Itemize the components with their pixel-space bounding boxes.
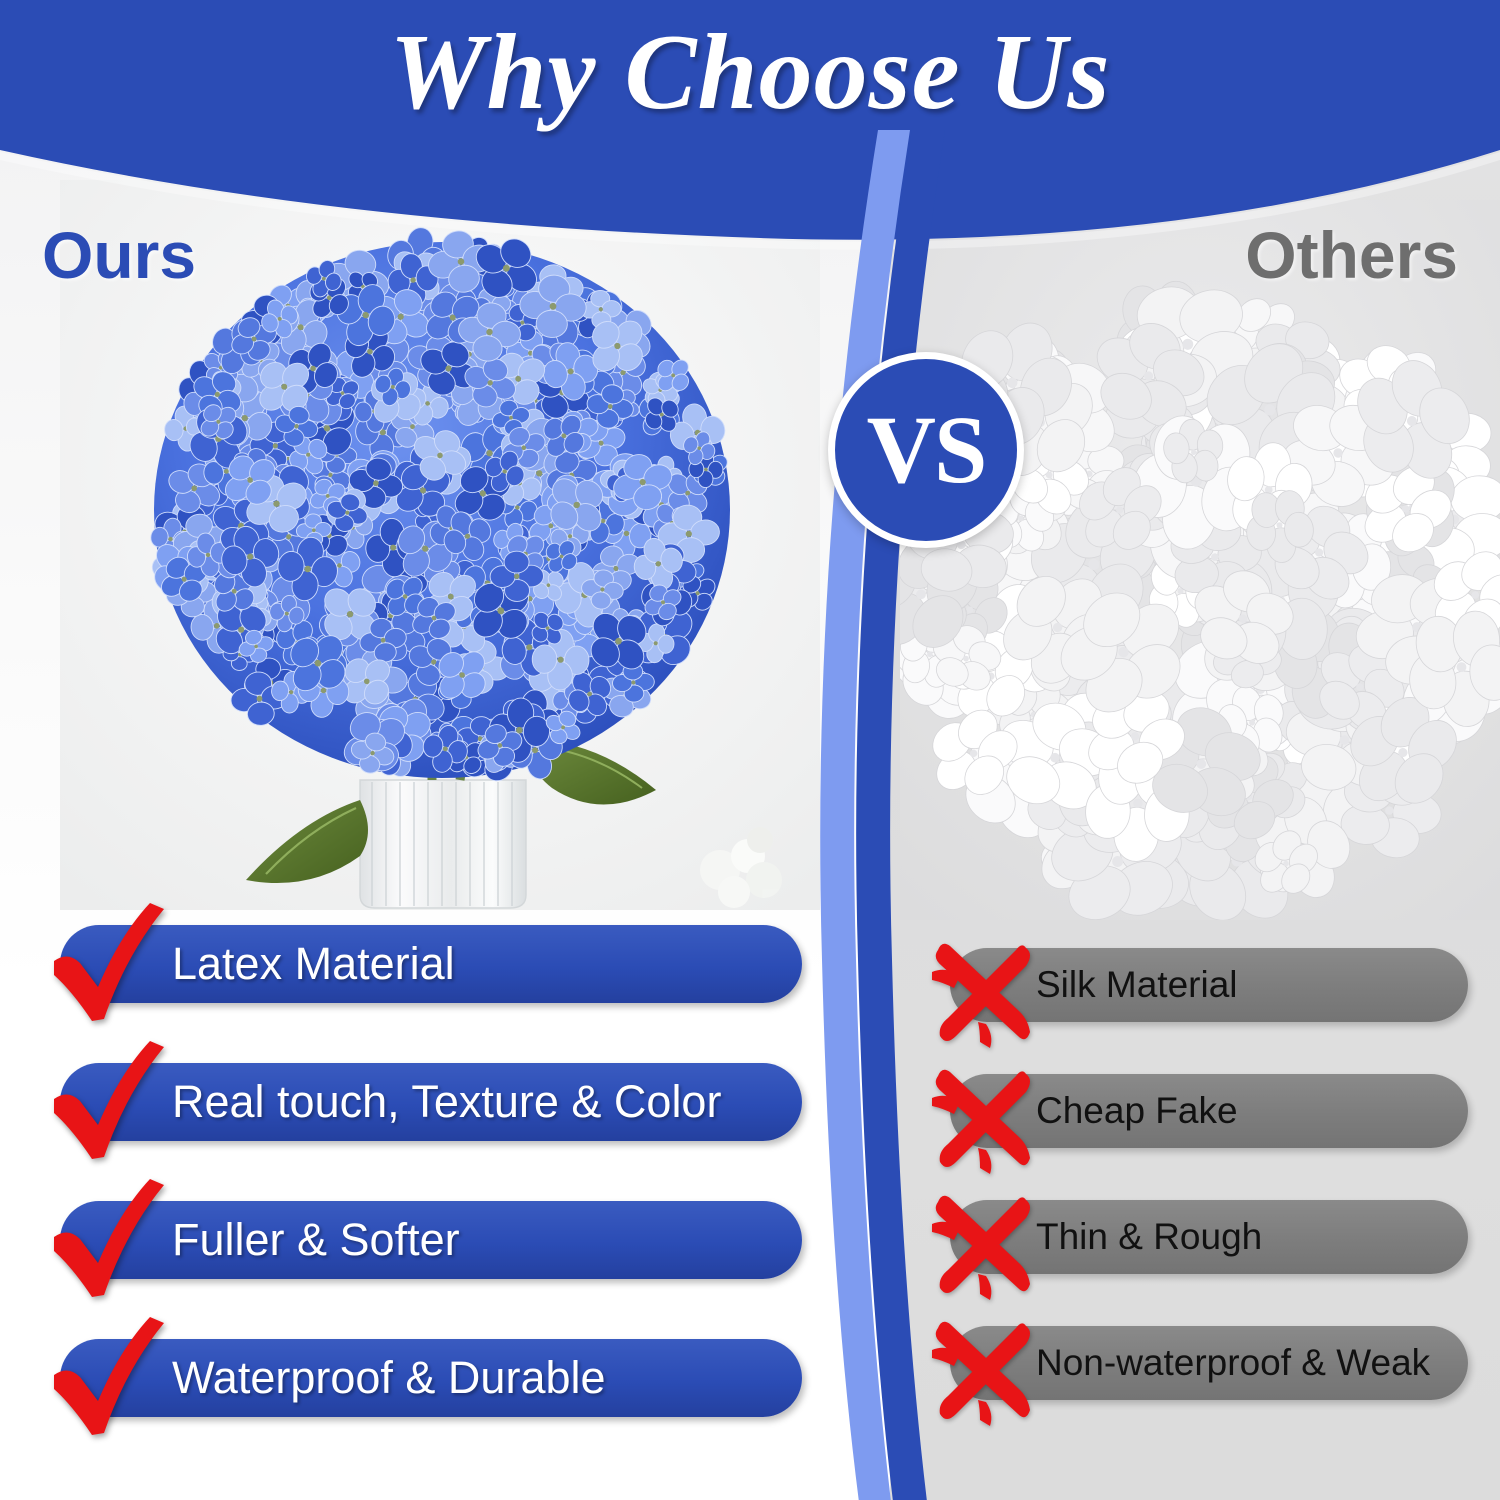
red-x-icon — [924, 932, 1042, 1050]
others-feature-label: Cheap Fake — [1036, 1090, 1238, 1132]
ours-feature-list: Latex Material Real touch, Texture & Col… — [42, 925, 802, 1477]
others-feature-item[interactable]: Cheap Fake — [928, 1074, 1468, 1148]
others-feature-list: Silk Material Cheap Fake Thin & Rough No… — [928, 948, 1468, 1452]
red-check-icon — [42, 1309, 174, 1441]
infographic-root: Why Choose Us VS Ours Others Latex Mater… — [0, 0, 1500, 1500]
red-check-icon — [42, 895, 174, 1027]
vs-badge: VS — [828, 352, 1024, 548]
ours-feature-item[interactable]: Waterproof & Durable — [42, 1339, 802, 1417]
page-title: Why Choose Us — [0, 16, 1500, 129]
others-product-photo — [900, 200, 1500, 920]
ours-feature-label: Waterproof & Durable — [172, 1352, 606, 1404]
red-x-icon — [924, 1058, 1042, 1176]
red-check-icon — [42, 1171, 174, 1303]
others-feature-label: Non-waterproof & Weak — [1036, 1342, 1430, 1384]
others-feature-label: Thin & Rough — [1036, 1216, 1262, 1258]
others-feature-label: Silk Material — [1036, 964, 1238, 1006]
others-feature-item[interactable]: Non-waterproof & Weak — [928, 1326, 1468, 1400]
ours-feature-item[interactable]: Real touch, Texture & Color — [42, 1063, 802, 1141]
others-feature-item[interactable]: Silk Material — [928, 948, 1468, 1022]
red-check-icon — [42, 1033, 174, 1165]
vs-label: VS — [867, 402, 986, 498]
ours-feature-label: Fuller & Softer — [172, 1214, 460, 1266]
ours-feature-item[interactable]: Fuller & Softer — [42, 1201, 802, 1279]
ours-feature-label: Latex Material — [172, 938, 455, 990]
others-feature-item[interactable]: Thin & Rough — [928, 1200, 1468, 1274]
ours-feature-item[interactable]: Latex Material — [42, 925, 802, 1003]
ours-heading: Ours — [42, 222, 196, 288]
red-x-icon — [924, 1310, 1042, 1428]
red-x-icon — [924, 1184, 1042, 1302]
others-heading: Others — [1245, 222, 1458, 288]
ours-feature-label: Real touch, Texture & Color — [172, 1076, 721, 1128]
